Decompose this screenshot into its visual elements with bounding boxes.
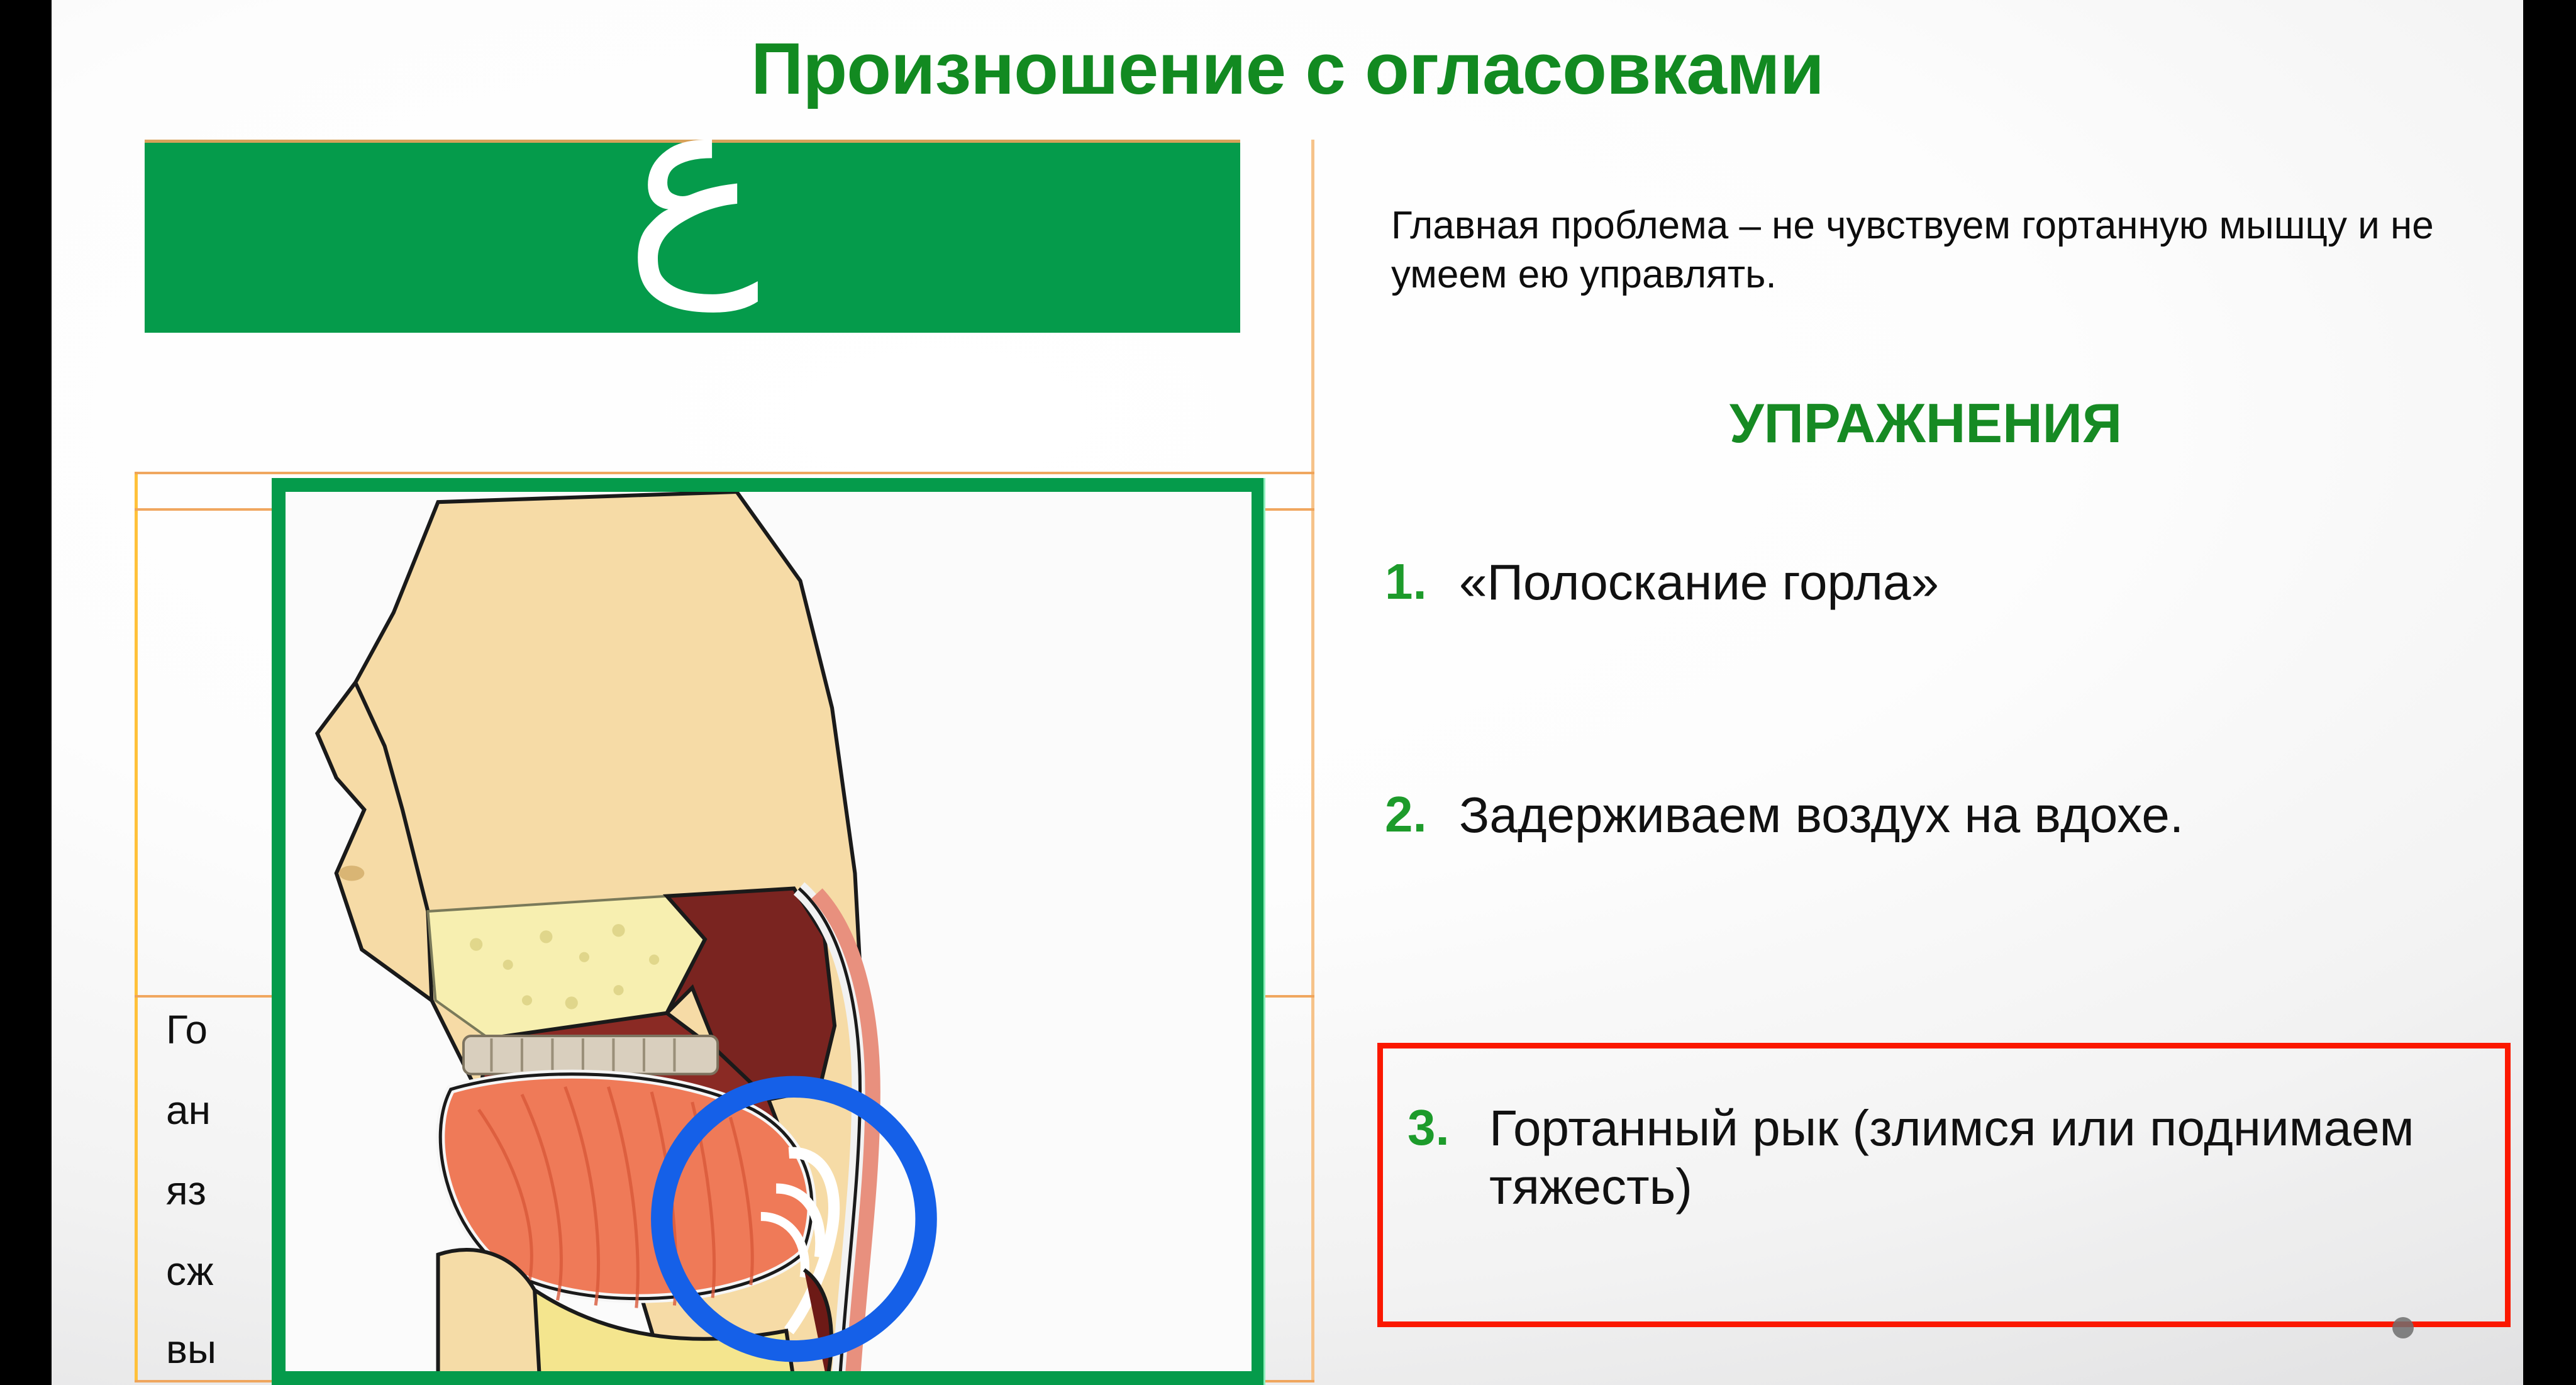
exercise-number: 1. [1385,553,1459,610]
table-left-border [135,472,138,1382]
exercise-text: Задерживаем воздух на вдохе. [1459,786,2184,845]
left-text-fragment: ан [166,1087,211,1133]
letterbox-bar-right [2523,0,2576,1385]
table-rule-top [135,472,1314,474]
lead-paragraph: Главная проблема – не чувствуем гортанну… [1391,201,2485,299]
slide-canvas: Произношение с огласовками ع Го ан яз сж… [52,0,2523,1385]
exercise-item-1: 1. «Полоскание горла» [1385,553,2492,612]
mouse-cursor-dot [2392,1317,2414,1338]
head-sagittal-section-illustration [286,492,1252,1371]
left-text-fragment: вы [166,1326,216,1372]
left-text-fragment: сж [166,1248,214,1294]
slide-root: Произношение с огласовками ع Го ан яз сж… [0,0,2576,1385]
left-text-fragment: Го [166,1006,208,1053]
exercise-item-2: 2. Задерживаем воздух на вдохе. [1385,786,2492,845]
anatomy-image-frame [272,478,1265,1385]
letterbox-bar-left [0,0,52,1385]
table-right-border [1311,140,1314,1382]
exercise-text: «Полоскание горла» [1459,553,1939,612]
arabic-letter-ayn: ع [145,66,1240,292]
exercise-number: 3. [1407,1099,1489,1156]
left-text-fragment: яз [166,1167,206,1214]
exercise-item-3: 3. Гортанный рык (злимся или поднимаем т… [1407,1099,2477,1216]
exercise-text: Гортанный рык (злимся или поднимаем тяже… [1489,1099,2477,1216]
exercise-number: 2. [1385,786,1459,843]
exercises-heading: УПРАЖНЕНИЯ [1391,391,2460,455]
arabic-letter-header: ع [145,140,1240,333]
anatomy-image [286,492,1252,1371]
